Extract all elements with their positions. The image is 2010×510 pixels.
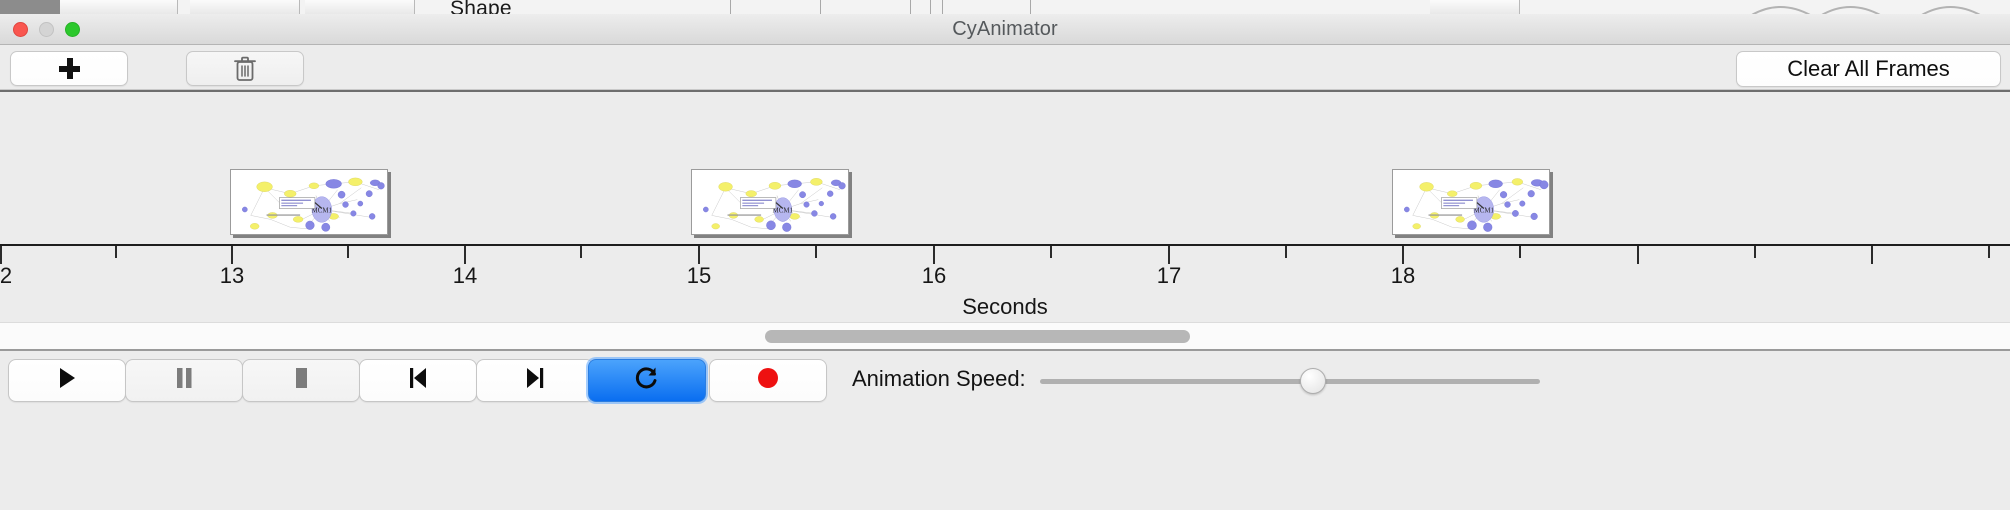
timeline-canvas[interactable]: MCM1 bbox=[0, 92, 2010, 317]
animation-speed-slider-track[interactable] bbox=[1040, 379, 1540, 384]
pause-icon bbox=[174, 366, 194, 395]
ruler-label-2: 14 bbox=[453, 263, 477, 289]
horizontal-scrollbar-track[interactable] bbox=[0, 322, 2010, 350]
ruler-tick-19 bbox=[1637, 246, 1639, 264]
animation-speed-slider-knob[interactable] bbox=[1300, 368, 1326, 394]
clear-all-frames-button[interactable]: Clear All Frames bbox=[1736, 51, 2001, 87]
skip-previous-icon bbox=[407, 366, 429, 395]
ruler-tick-minor-1 bbox=[115, 246, 117, 258]
close-button[interactable] bbox=[13, 22, 28, 37]
zoom-button[interactable] bbox=[65, 22, 80, 37]
cyanimator-window: Shape CyAnimator bbox=[0, 0, 2010, 510]
next-frame-button[interactable] bbox=[476, 359, 594, 402]
play-button[interactable] bbox=[8, 359, 126, 402]
ruler-tick-minor-9 bbox=[1988, 246, 1990, 258]
play-icon bbox=[56, 366, 78, 395]
skip-next-icon bbox=[524, 366, 546, 395]
trash-icon bbox=[234, 56, 256, 82]
ruler-label-6: 18 bbox=[1391, 263, 1415, 289]
network-graph-thumbnail: MCM1 bbox=[1393, 170, 1549, 235]
horizontal-scrollbar-thumb[interactable] bbox=[765, 330, 1190, 343]
ruler-tick-minor-5 bbox=[1050, 246, 1052, 258]
ruler-label-0: 2 bbox=[0, 263, 12, 289]
ruler-tick-12 bbox=[0, 246, 2, 264]
toolbar: Clear All Frames bbox=[0, 45, 2010, 89]
animation-speed-label: Animation Speed: bbox=[852, 366, 1026, 392]
timeline-ruler bbox=[0, 244, 2010, 246]
timeline-frame-1[interactable]: MCM1 bbox=[230, 169, 388, 235]
pause-button[interactable] bbox=[125, 359, 243, 402]
ruler-tick-13 bbox=[231, 246, 233, 264]
record-icon bbox=[756, 366, 780, 395]
ruler-tick-14 bbox=[464, 246, 466, 264]
previous-frame-button[interactable] bbox=[359, 359, 477, 402]
delete-frame-button[interactable] bbox=[186, 51, 304, 86]
timeline-frame-2[interactable]: MCM1 bbox=[691, 169, 849, 235]
ruler-tick-15 bbox=[698, 246, 700, 264]
add-frame-button[interactable] bbox=[10, 51, 128, 86]
ruler-tick-17 bbox=[1168, 246, 1170, 264]
ruler-tick-minor-6 bbox=[1285, 246, 1287, 258]
ruler-tick-18 bbox=[1402, 246, 1404, 264]
stop-button[interactable] bbox=[242, 359, 360, 402]
ruler-label-5: 17 bbox=[1157, 263, 1181, 289]
minimize-button[interactable] bbox=[39, 22, 54, 37]
window-traffic-lights bbox=[13, 22, 80, 37]
ruler-tick-16 bbox=[933, 246, 935, 264]
ruler-tick-minor-4 bbox=[815, 246, 817, 258]
stop-icon bbox=[291, 366, 311, 395]
timeline-frame-3[interactable]: MCM1 bbox=[1392, 169, 1550, 235]
plus-icon bbox=[59, 58, 80, 79]
loop-icon bbox=[634, 365, 660, 396]
ruler-tick-minor-3 bbox=[580, 246, 582, 258]
ruler-tick-20 bbox=[1871, 246, 1873, 264]
ruler-tick-minor-8 bbox=[1754, 246, 1756, 258]
ruler-label-1: 13 bbox=[220, 263, 244, 289]
ruler-tick-minor-2 bbox=[347, 246, 349, 258]
network-graph-thumbnail: MCM1 bbox=[231, 170, 387, 235]
axis-title-seconds: Seconds bbox=[0, 294, 2010, 320]
window-title: CyAnimator bbox=[0, 18, 2010, 41]
playback-controls-bar: Animation Speed: bbox=[0, 351, 2010, 510]
ruler-label-3: 15 bbox=[687, 263, 711, 289]
ruler-tick-minor-7 bbox=[1519, 246, 1521, 258]
title-bar: CyAnimator bbox=[0, 14, 2010, 45]
ruler-label-4: 16 bbox=[922, 263, 946, 289]
clear-all-frames-label: Clear All Frames bbox=[1787, 56, 1950, 82]
network-graph-thumbnail: MCM1 bbox=[692, 170, 848, 235]
record-button[interactable] bbox=[709, 359, 827, 402]
loop-button[interactable] bbox=[588, 359, 706, 402]
